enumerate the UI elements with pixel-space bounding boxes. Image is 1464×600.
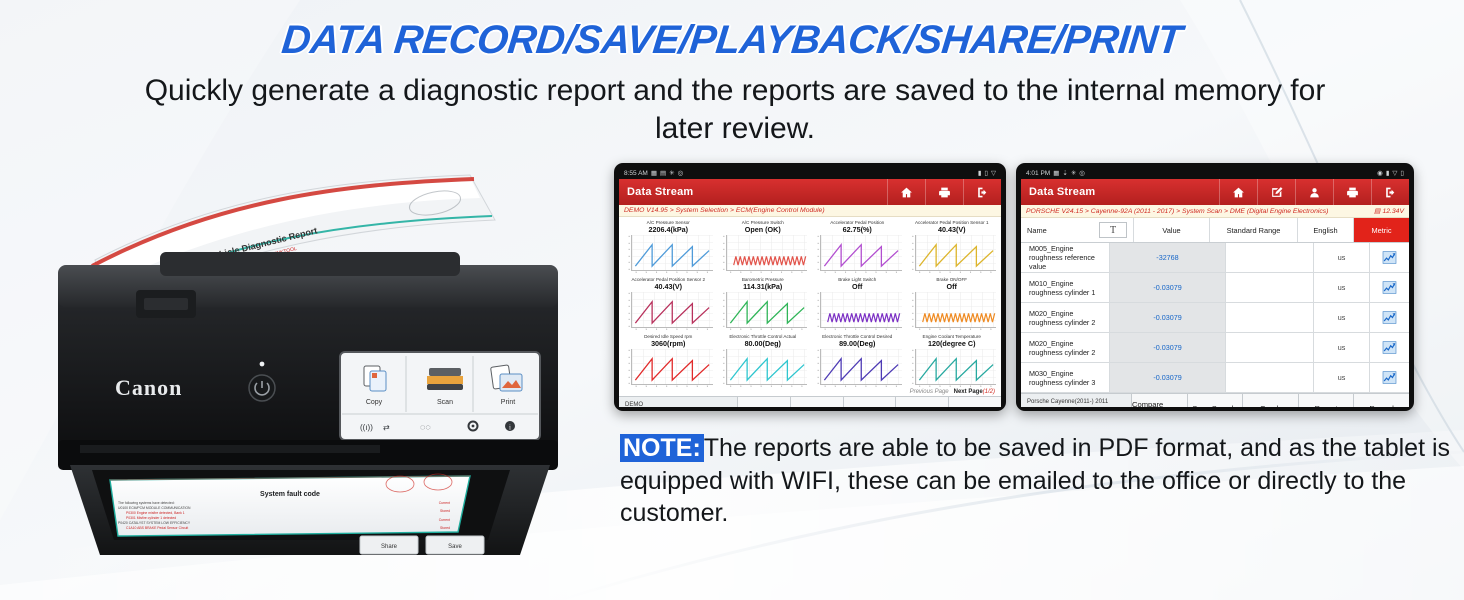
graph-y-axis: ━━━━━━ [908, 235, 915, 271]
graph-area [915, 235, 997, 271]
graph-value: 40.43(V) [624, 282, 713, 291]
right-appbar-title: Data Stream [1029, 186, 1095, 198]
right-statusbar: 4:01 PM ▦ ⇣ ✳ ◎ ◉ ▮ ▽ ▯ [1021, 167, 1409, 179]
svg-text:Stored: Stored [440, 526, 450, 530]
graph-value: 89.00(Deg) [813, 339, 902, 348]
graph-y-axis: ━━━━━━ [813, 235, 820, 271]
graph-x-axis: ssssssss [908, 385, 997, 388]
graph-y-axis: ━━━━━━ [719, 292, 726, 328]
tablet-left-screen: 8:55 AM ▦ ▤ ✳ ◎ ▮ ▯ ▽ Data Stream [619, 167, 1001, 407]
svg-text:Scan: Scan [437, 399, 453, 406]
cell-name: M020_Engine roughness cylinder 2 [1021, 333, 1109, 362]
row-chart-button[interactable] [1369, 243, 1409, 272]
graph-plot: ━━━━━━ [813, 292, 902, 328]
graph-y-axis: ━━━━━━ [813, 292, 820, 328]
trend-chart-icon [1382, 311, 1397, 324]
left-button-bar: DEMO VIN 1E4GEAK12F T00001X Save Sample … [619, 396, 1001, 407]
graph-x-axis: ssssssss [813, 385, 902, 388]
cell-standard-range [1225, 303, 1313, 332]
graph-y-axis: ━━━━━━ [908, 292, 915, 328]
left-breadcrumb: DEMO V14.95 > System Selection > ECM(Eng… [619, 205, 1001, 217]
graph-cell[interactable]: Accelerator Pedal Position Sensor 140.43… [905, 218, 1000, 275]
svg-text:The following systems have det: The following systems have detected: [118, 501, 175, 505]
graph-y-axis: ━━━━━━ [624, 349, 631, 385]
sim-icon: ▦ [651, 169, 657, 177]
graph-area [726, 349, 808, 385]
graph-cell[interactable]: Brake ON/OFFOff━━━━━━ssssssss [905, 275, 1000, 332]
home-icon[interactable] [887, 179, 925, 205]
svg-text:◌◌: ◌◌ [420, 422, 431, 432]
cell-value: -0.03079 [1109, 363, 1225, 392]
svg-text:System fault code: System fault code [260, 491, 320, 498]
cell-standard-range [1225, 273, 1313, 302]
output-tray: System fault code The following systems … [70, 465, 550, 555]
trend-chart-icon [1382, 341, 1397, 354]
left-vehicle-name: DEMO [625, 401, 731, 407]
home-icon[interactable] [1219, 179, 1257, 205]
graph-value: Off [813, 282, 902, 291]
subheadline: Quickly generate a diagnostic report and… [120, 72, 1350, 149]
graph-plot: ━━━━━━ [908, 292, 997, 328]
graph-value: Open (OK) [719, 225, 808, 234]
graph-x-axis: ssssssss [624, 328, 713, 331]
left-statusbar-time: 8:55 AM [624, 170, 648, 177]
save-sample-button[interactable]: Save Sample [737, 397, 790, 407]
graph-x-axis: ssssssss [719, 328, 808, 331]
page-count: (1/2) [983, 389, 995, 395]
column-header-standard-range: Standard Range [1209, 218, 1297, 242]
printer-icon[interactable] [925, 179, 963, 205]
exit-icon[interactable] [1371, 179, 1409, 205]
right-vin: VIN WP1AB2922BLA52633 [1027, 406, 1125, 407]
svg-text:C1A10 ABS BRAKE Pedal Sensor C: C1A10 ABS BRAKE Pedal Sensor Circuit [126, 526, 188, 530]
svg-text:Current: Current [439, 501, 450, 505]
left-breadcrumb-text: DEMO V14.95 > System Selection > ECM(Eng… [624, 207, 825, 214]
cell-standard-range [1225, 243, 1313, 272]
graph-cell[interactable]: Brake Light SwitchOff━━━━━━ssssssss [810, 275, 905, 332]
graph-plot: ━━━━━━ [908, 349, 997, 385]
trend-chart-icon [1382, 281, 1397, 294]
download-icon: ⇣ [1062, 169, 1067, 177]
row-chart-button[interactable] [1369, 333, 1409, 362]
graph-value: 40.43(V) [908, 225, 997, 234]
right-breadcrumb-text: PORSCHE V24.15 > Cayenne-92A (2011 - 201… [1026, 208, 1328, 215]
graph-area [631, 292, 713, 328]
tablet-left: 8:55 AM ▦ ▤ ✳ ◎ ▮ ▯ ▽ Data Stream [614, 163, 1006, 411]
record-button[interactable]: Record [948, 397, 1001, 407]
graph-value: Off [908, 282, 997, 291]
graph-x-axis: ssssssss [624, 385, 713, 388]
left-vehicle-info: DEMO VIN 1E4GEAK12F T00001X [619, 397, 737, 407]
bluetooth-icon: ✳ [669, 169, 674, 177]
graph-cell[interactable]: A/C Pressure SwitchOpen (OK)━━━━━━ssssss… [716, 218, 811, 275]
graph-plot: ━━━━━━ [624, 235, 713, 271]
graph-cell[interactable]: Engine Coolant Temperature120(degree C)━… [905, 332, 1000, 389]
cell-standard-range [1225, 363, 1313, 392]
combine-button[interactable]: Combine [790, 397, 843, 407]
printer-illustration: Vehicle Diagnostic Report This report is… [40, 140, 600, 570]
svg-text:Current: Current [439, 518, 450, 522]
printer-control-panel: Copy Scan Print ((ı)) ⇄ ◌◌ [340, 352, 540, 440]
table-row[interactable]: M010_Engine roughness cylinder 1-0.03079… [1021, 273, 1409, 303]
graph-value: 62.75(%) [813, 225, 902, 234]
svg-text:i: i [509, 424, 511, 432]
svg-text:((ı)): ((ı)) [360, 423, 373, 432]
graph-plot: ━━━━━━ [908, 235, 997, 271]
graph-cell[interactable]: Desired Idle Speed rpm3060(rpm)━━━━━━sss… [621, 332, 716, 389]
graph-x-axis: ssssssss [813, 328, 902, 331]
note-tag: NOTE: [620, 434, 704, 462]
page-title: DATA RECORD/SAVE/PLAYBACK/SHARE/PRINT [280, 18, 1184, 63]
graph-plot: ━━━━━━ [813, 349, 902, 385]
graph-cell[interactable]: Electronic Throttle Control Desired89.00… [810, 332, 905, 389]
graph-plot: ━━━━━━ [813, 235, 902, 271]
text-filter-button[interactable]: T [1093, 218, 1133, 242]
svg-text:P0301 Misfire cylinder 1 detec: P0301 Misfire cylinder 1 detected [126, 516, 176, 520]
record-button[interactable]: Record [1353, 394, 1409, 407]
right-appbar: Data Stream [1021, 179, 1409, 205]
cell-unit: us [1313, 363, 1369, 392]
printer-brand-label: Canon [115, 375, 182, 400]
graph-cell[interactable]: A/C Pressure Sensor2206.4(kPa)━━━━━━ssss… [621, 218, 716, 275]
column-header-value: Value [1133, 218, 1209, 242]
cell-value: -0.03079 [1109, 333, 1225, 362]
svg-text:⇄: ⇄ [383, 423, 390, 432]
graph-area [820, 235, 902, 271]
bluetooth-icon: ✳ [1071, 169, 1076, 177]
right-vehicle-name: Porsche Cayenne(2011-) 2011 [1027, 398, 1125, 406]
table-row[interactable]: M030_Engine roughness cylinder 3-0.03079… [1021, 363, 1409, 393]
signal-icon: ▮ [978, 169, 982, 177]
graph-value: 114.31(kPa) [719, 282, 808, 291]
cell-name: M005_Engine roughness reference value [1021, 243, 1109, 272]
cell-value: -0.03079 [1109, 303, 1225, 332]
graph-y-axis: ━━━━━━ [624, 235, 631, 271]
graph-plot: ━━━━━━ [624, 349, 713, 385]
note-block: NOTE:The reports are able to be saved in… [620, 432, 1450, 530]
graph-x-axis: ssssssss [908, 271, 997, 274]
sim-icon: ▦ [1053, 169, 1059, 177]
voltage-value: 12.34V [1382, 208, 1404, 215]
row-chart-button[interactable] [1369, 363, 1409, 392]
trend-chart-icon [1382, 251, 1397, 264]
graph-plot: ━━━━━━ [719, 292, 808, 328]
cell-value: -32768 [1109, 243, 1225, 272]
wifi-icon: ▽ [991, 169, 996, 177]
location-icon: ◎ [1079, 169, 1085, 177]
graph-value: 120(degree C) [908, 339, 997, 348]
graph-plot: ━━━━━━ [719, 349, 808, 385]
voltage-indicator: ▤ 12.34V [1374, 207, 1404, 215]
left-appbar-title: Data Stream [627, 186, 693, 198]
graph-x-axis: ssssssss [813, 271, 902, 274]
graph-value: 80.00(Deg) [719, 339, 808, 348]
graph-x-axis: ssssssss [624, 271, 713, 274]
left-appbar: Data Stream [619, 179, 1001, 205]
right-breadcrumb: PORSCHE V24.15 > Cayenne-92A (2011 - 201… [1021, 205, 1409, 218]
graph-x-axis: ssssssss [908, 328, 997, 331]
graph-x-axis: ssssssss [719, 271, 808, 274]
cell-unit: us [1313, 333, 1369, 362]
cell-standard-range [1225, 333, 1313, 362]
signal-icon: ▮ [1386, 169, 1390, 177]
svg-text:Print: Print [501, 399, 515, 406]
graph-area [726, 235, 808, 271]
graph-cell[interactable]: Electronic Throttle Control Actual80.00(… [716, 332, 811, 389]
cell-name: M030_Engine roughness cylinder 3 [1021, 363, 1109, 392]
tablet-right: 4:01 PM ▦ ⇣ ✳ ◎ ◉ ▮ ▽ ▯ Data Stream [1016, 163, 1414, 411]
svg-text:Share: Share [381, 544, 398, 550]
value-button[interactable]: Value [843, 397, 896, 407]
wifi-icon: ▽ [1392, 169, 1397, 177]
battery-icon: ▯ [984, 169, 988, 177]
cell-unit: us [1313, 243, 1369, 272]
right-button-bar: Porsche Cayenne(2011-) 2011 VIN WP1AB292… [1021, 393, 1409, 407]
graph-plot: ━━━━━━ [719, 235, 808, 271]
save-sample-button[interactable]: Save Sample [1187, 394, 1243, 407]
left-pager[interactable]: Previous Page Next Page(1/2) [619, 389, 1001, 396]
location-icon: ◉ [1377, 169, 1383, 177]
svg-text:Save: Save [448, 544, 462, 550]
graph-y-axis: ━━━━━━ [624, 292, 631, 328]
datastream-graph-grid: A/C Pressure Sensor2206.4(kPa)━━━━━━ssss… [619, 217, 1001, 389]
right-statusbar-time: 4:01 PM [1026, 170, 1050, 177]
cell-unit: us [1313, 273, 1369, 302]
report-button[interactable]: Report [895, 397, 948, 407]
graph-plot: ━━━━━━ [624, 292, 713, 328]
svg-text:U0100 ECM/PCM MODULE COMMUNICA: U0100 ECM/PCM MODULE COMMUNICATION [118, 506, 191, 510]
graph-cell[interactable]: Accelerator Pedal Position62.75(%)━━━━━━… [810, 218, 905, 275]
note-text: The reports are able to be saved in PDF … [620, 434, 1450, 527]
graph-area [915, 292, 997, 328]
printer-icon[interactable] [1333, 179, 1371, 205]
graph-area [631, 235, 713, 271]
trend-chart-icon [1382, 371, 1397, 384]
graph-cell[interactable]: Accelerator Pedal Position Sensor 240.43… [621, 275, 716, 332]
graph-area [631, 349, 713, 385]
table-row[interactable]: M020_Engine roughness cylinder 2-0.03079… [1021, 333, 1409, 363]
graph-area [820, 349, 902, 385]
battery-icon: ▤ [1374, 207, 1380, 215]
next-page-label[interactable]: Next Page [954, 389, 983, 395]
graph-value: 3060(rpm) [624, 339, 713, 348]
person-icon[interactable] [1295, 179, 1333, 205]
text-icon: T [1099, 222, 1127, 238]
column-header-name: Name [1021, 218, 1093, 242]
edit-icon[interactable] [1257, 179, 1295, 205]
graph-button[interactable]: Graph [1242, 394, 1298, 407]
graph-area [820, 292, 902, 328]
system-fault-code-document: System fault code The following systems … [110, 474, 470, 536]
datastream-table-header: Name T Value Standard Range English Metr… [1021, 218, 1409, 243]
left-statusbar: 8:55 AM ▦ ▤ ✳ ◎ ▮ ▯ ▽ [619, 167, 1001, 179]
table-row[interactable]: M020_Engine roughness cylinder 2-0.03079… [1021, 303, 1409, 333]
row-chart-button[interactable] [1369, 273, 1409, 302]
svg-text:P0420 CATALYST SYSTEM LOW EFFI: P0420 CATALYST SYSTEM LOW EFFICIENCY [118, 521, 191, 525]
graph-cell[interactable]: Barometric Pressure114.31(kPa)━━━━━━ssss… [716, 275, 811, 332]
graph-area [726, 292, 808, 328]
exit-icon[interactable] [963, 179, 1001, 205]
graph-area [915, 349, 997, 385]
location-icon: ◎ [678, 169, 684, 177]
graph-x-axis: ssssssss [719, 385, 808, 388]
svg-text:Copy: Copy [366, 399, 383, 406]
graph-value: 2206.4(kPa) [624, 225, 713, 234]
graph-y-axis: ━━━━━━ [813, 349, 820, 385]
svg-text:P0300 Engine misfire detected,: P0300 Engine misfire detected, Bank 1 [126, 511, 185, 515]
table-row[interactable]: M005_Engine roughness reference value-32… [1021, 243, 1409, 273]
report-button[interactable]: Report [1298, 394, 1354, 407]
tablet-right-screen: 4:01 PM ▦ ⇣ ✳ ◎ ◉ ▮ ▽ ▯ Data Stream [1021, 167, 1409, 407]
graph-y-axis: ━━━━━━ [719, 349, 726, 385]
right-vehicle-info: Porsche Cayenne(2011-) 2011 VIN WP1AB292… [1021, 394, 1131, 407]
cell-name: M020_Engine roughness cylinder 2 [1021, 303, 1109, 332]
cell-unit: us [1313, 303, 1369, 332]
unit-toggle-metric[interactable]: Metric [1353, 218, 1409, 242]
row-chart-button[interactable] [1369, 303, 1409, 332]
headline-container: DATA RECORD/SAVE/PLAYBACK/SHARE/PRINT [0, 18, 1464, 63]
previous-page-label[interactable]: Previous Page [910, 389, 949, 395]
unit-toggle-english[interactable]: English [1297, 218, 1353, 242]
graph-y-axis: ━━━━━━ [719, 235, 726, 271]
datastream-table-body: M005_Engine roughness reference value-32… [1021, 243, 1409, 393]
compare-sample-button[interactable]: Compare Sample [1131, 394, 1187, 407]
cell-value: -0.03079 [1109, 273, 1225, 302]
battery-icon: ▯ [1400, 169, 1404, 177]
graph-y-axis: ━━━━━━ [908, 349, 915, 385]
cell-name: M010_Engine roughness cylinder 1 [1021, 273, 1109, 302]
svg-text:Stored: Stored [440, 509, 450, 513]
sd-icon: ▤ [660, 169, 666, 177]
